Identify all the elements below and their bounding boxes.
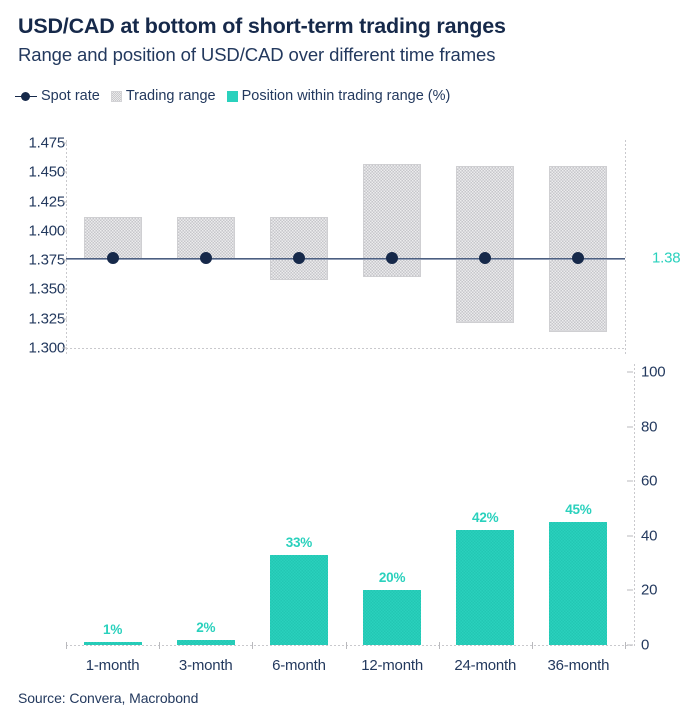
category-tick [66,642,67,649]
position-bar-label: 2% [166,620,246,635]
position-y-tick-label: 60 [641,473,657,490]
position-bar-label: 1% [73,622,153,637]
position-y-tick-label: 80 [641,418,657,435]
category-tick [252,642,253,649]
position-bar [549,522,607,645]
position-bar-label: 33% [259,535,339,550]
position-y-axis-line [634,364,635,647]
position-bar-label: 45% [538,502,618,517]
position-y-tick [627,481,633,482]
category-tick [439,642,440,649]
category-label: 36-month [518,657,638,674]
category-tick [625,642,626,649]
category-tick [159,642,160,649]
position-panel: 020406080100 1%2%33%20%42%45% 1-month3-m… [0,0,699,724]
position-bar-label: 20% [352,570,432,585]
position-bar [84,642,142,645]
category-tick [346,642,347,649]
position-bar [177,640,235,645]
position-y-tick [627,535,633,536]
position-bar [270,555,328,645]
position-y-tick-label: 20 [641,582,657,599]
position-bar [456,530,514,645]
position-x-axis-line [66,645,634,646]
position-y-tick [627,590,633,591]
category-tick [532,642,533,649]
position-y-tick-label: 100 [641,364,665,381]
position-y-tick-label: 40 [641,527,657,544]
chart-root: USD/CAD at bottom of short-term trading … [0,0,699,724]
position-bar-label: 42% [445,510,525,525]
position-y-tick-label: 0 [641,637,649,654]
position-y-tick [627,426,633,427]
position-y-tick [627,372,633,373]
position-bar [363,590,421,645]
source-note: Source: Convera, Macrobond [18,690,198,706]
